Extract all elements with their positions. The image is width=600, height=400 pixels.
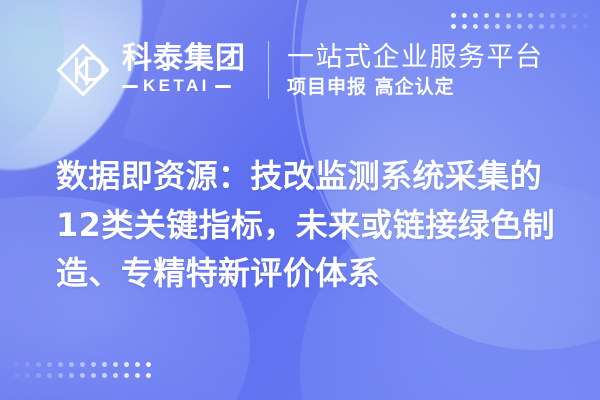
brand-wordmark: 科泰集团 KETAI [122,44,246,97]
brand-name-en: KETAI [143,76,210,96]
dot [36,373,41,378]
brand-logo: 科泰集团 KETAI [55,42,246,98]
promo-banner: 科泰集团 KETAI 一站式企业服务平台 项目申报 高企认定 数据即资源：技改监… [0,0,600,400]
ketai-diamond-monogram-icon [55,42,111,98]
banner-header: 科泰集团 KETAI 一站式企业服务平台 项目申报 高企认定 [0,0,600,140]
dot [47,373,52,378]
dot [146,362,151,367]
header-tagline: 一站式企业服务平台 项目申报 高企认定 [287,42,544,99]
dot [47,362,52,367]
tagline-primary: 一站式企业服务平台 [287,42,544,74]
dot-row [14,362,151,367]
dot [135,373,140,378]
dot [36,362,41,367]
dot [25,373,30,378]
dot [124,373,129,378]
dot [58,373,63,378]
dot-row [14,373,151,378]
brand-name-en-row: KETAI [122,76,246,96]
dot [102,373,107,378]
wordmark-rule-right [215,85,231,88]
dot [14,373,19,378]
dot-grid-bottom-left [14,362,151,378]
dot [80,373,85,378]
dot [102,362,107,367]
dot [113,362,118,367]
dot [69,362,74,367]
brand-name-cn: 科泰集团 [122,44,246,75]
dot [146,373,151,378]
tagline-secondary: 项目申报 高企认定 [287,76,544,99]
header-divider [268,41,269,99]
page-title: 数据即资源：技改监测系统采集的12类关键指标，未来或链接绿色制造、专精特新评价体… [56,152,566,298]
dot [91,373,96,378]
dot [58,362,63,367]
dot [69,373,74,378]
dot [135,362,140,367]
dot [80,362,85,367]
dot [91,362,96,367]
dot [25,362,30,367]
wordmark-rule-left [122,85,138,88]
dot [14,362,19,367]
dot [124,362,129,367]
dot [113,373,118,378]
